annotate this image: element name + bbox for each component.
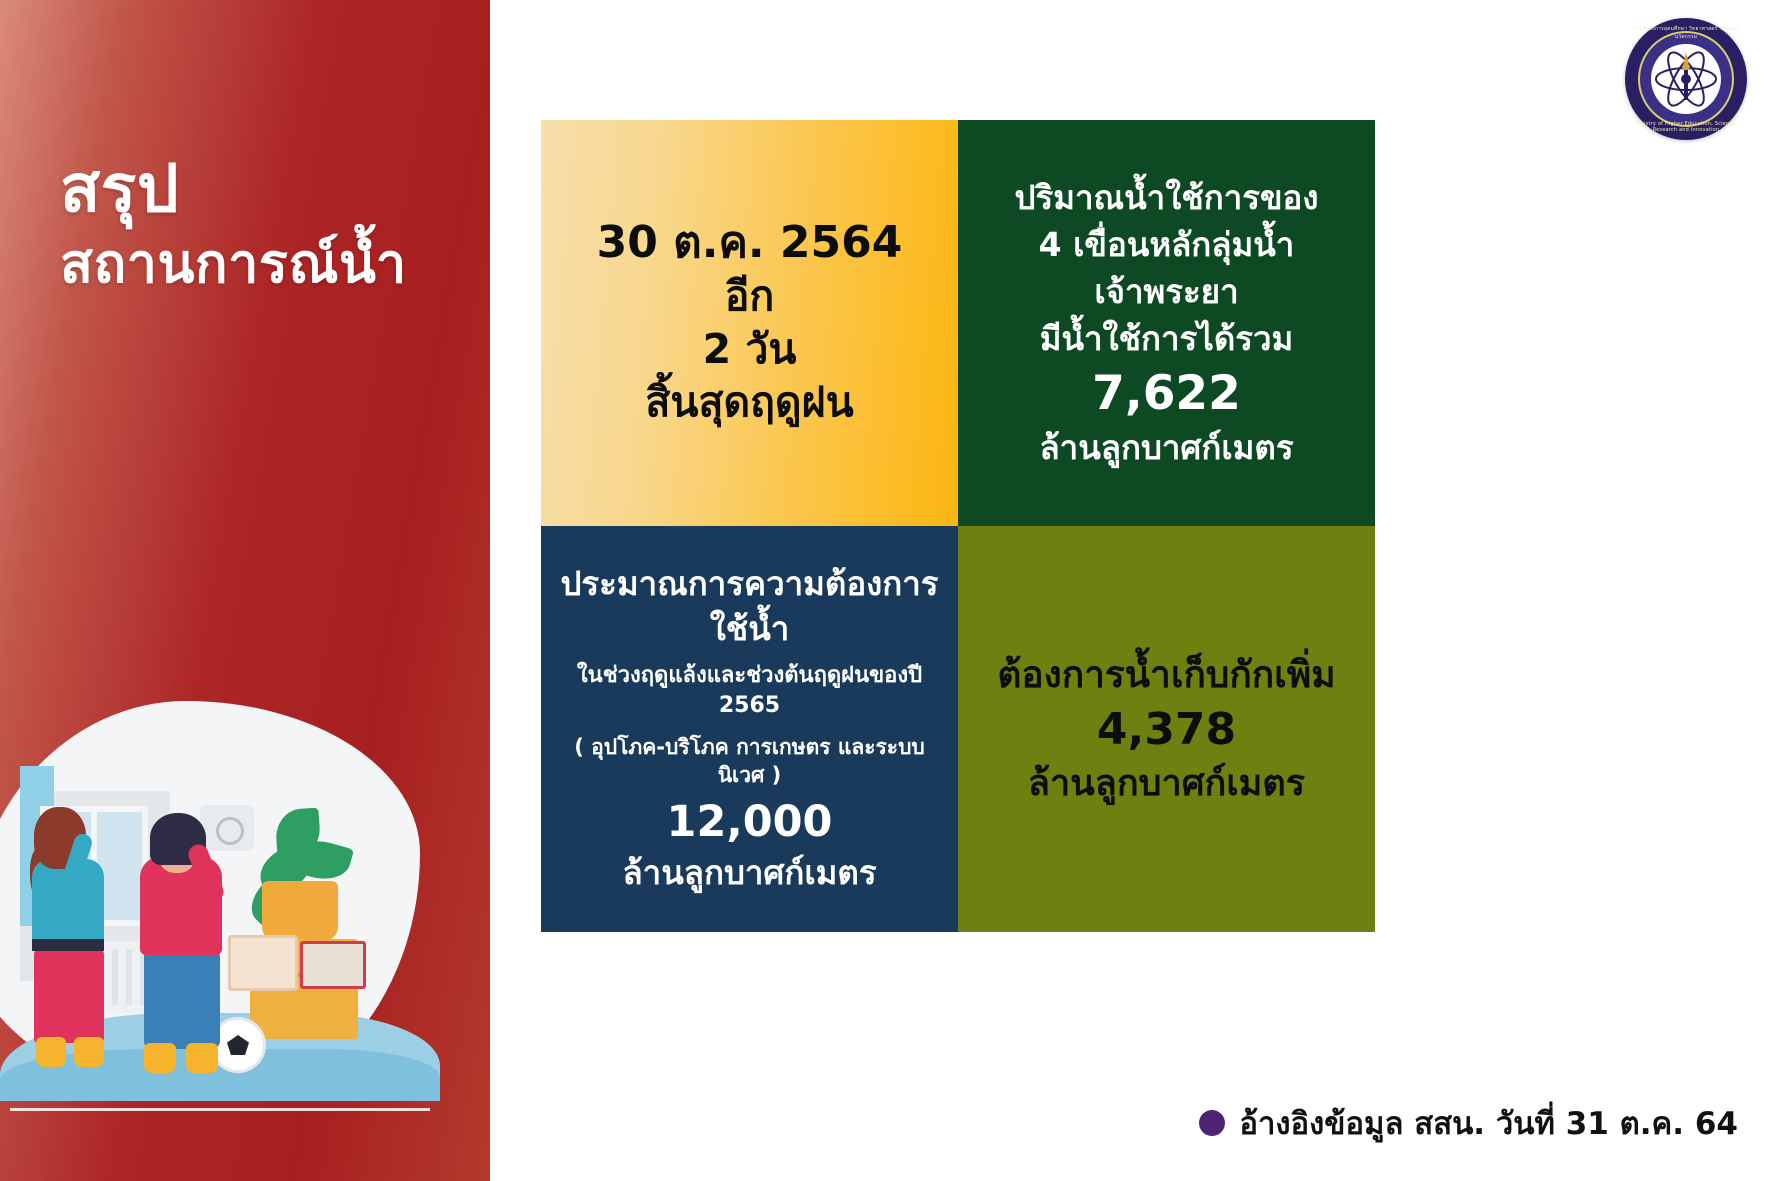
quadrant-water-demand-estimate: ประมาณการความต้องการใช้น้ำ ในช่วงฤดูแล้ง… xyxy=(541,526,958,932)
demand-line-3: ( อุปโภค-บริโภค การเกษตร และระบบนิเวศ ) xyxy=(557,733,942,790)
woman-boot-right xyxy=(74,1037,104,1067)
reference-text: อ้างอิงข้อมูล สสน. วันที่ 31 ต.ค. 64 xyxy=(1239,1098,1738,1148)
dams-value: 7,622 xyxy=(1092,363,1241,425)
logo-bottom-text: Ministry of Higher Education, Science, R… xyxy=(1625,121,1747,133)
ministry-logo: กระทรวงการอุดมศึกษา วิทยาศาสตร์ วิจัยและ… xyxy=(1625,18,1747,140)
dams-line-1: ปริมาณน้ำใช้การของ xyxy=(1015,175,1319,222)
storage-box-icon xyxy=(228,935,298,991)
countdown-more-label: อีก xyxy=(725,270,774,323)
clock-icon xyxy=(200,805,254,851)
page-title-line-1: สรุป xyxy=(60,150,480,228)
woman-boot-left xyxy=(36,1037,66,1067)
storage-line-1: ต้องการน้ำเก็บกักเพิ่ม xyxy=(997,650,1335,700)
storage-value: 4,378 xyxy=(1097,701,1236,760)
man-boot-left xyxy=(144,1043,176,1073)
left-title-panel: สรุป สถานการณ์น้ำ xyxy=(0,0,490,1181)
quadrant-date-countdown: 30 ต.ค. 2564 อีก 2 วัน สิ้นสุดฤดูฝน xyxy=(541,120,958,526)
page-title-line-2: สถานการณ์น้ำ xyxy=(60,232,480,296)
demand-line-1: ประมาณการความต้องการใช้น้ำ xyxy=(557,562,942,651)
footer-reference: อ้างอิงข้อมูล สสน. วันที่ 31 ต.ค. 64 xyxy=(1199,1098,1738,1148)
illustration-baseline-rule xyxy=(10,1108,430,1111)
page-title: สรุป สถานการณ์น้ำ xyxy=(60,150,480,296)
man-boot-right xyxy=(186,1043,218,1073)
demand-value: 12,000 xyxy=(667,795,833,851)
demand-unit: ล้านลูกบาศก์เมตร xyxy=(622,851,876,896)
storage-unit: ล้านลูกบาศก์เมตร xyxy=(1028,760,1305,808)
countdown-end-label: สิ้นสุดฤดูฝน xyxy=(645,376,853,429)
bullet-dot-icon xyxy=(1199,1110,1225,1136)
countdown-days-value: 2 วัน xyxy=(703,323,797,376)
dams-unit: ล้านลูกบาศก์เมตร xyxy=(1039,425,1293,471)
storage-box-icon xyxy=(300,941,366,989)
two-people-indoors-illustration xyxy=(0,671,440,1101)
summary-quadrant-grid: 30 ต.ค. 2564 อีก 2 วัน สิ้นสุดฤดูฝน ปริม… xyxy=(541,120,1375,932)
quadrant-additional-storage-needed: ต้องการน้ำเก็บกักเพิ่ม 4,378 ล้านลูกบาศก… xyxy=(958,526,1375,932)
man-legs xyxy=(144,949,220,1049)
plant-pot-icon xyxy=(262,881,338,941)
logo-top-text: กระทรวงการอุดมศึกษา วิทยาศาสตร์ วิจัยและ… xyxy=(1625,25,1747,41)
quadrant-dams-available-water: ปริมาณน้ำใช้การของ 4 เขื่อนหลักลุ่มน้ำเจ… xyxy=(958,120,1375,526)
woman-belt xyxy=(32,939,104,951)
demand-line-2: ในช่วงฤดูแล้งและช่วงต้นฤดูฝนของปี 2565 xyxy=(557,661,942,720)
countdown-date: 30 ต.ค. 2564 xyxy=(597,216,903,270)
dams-line-3: มีน้ำใช้การได้รวม xyxy=(1040,316,1294,363)
atom-torch-emblem-icon xyxy=(1651,44,1721,114)
woman-legs xyxy=(34,947,104,1043)
dams-line-2: 4 เขื่อนหลักลุ่มน้ำเจ้าพระยา xyxy=(974,222,1359,316)
